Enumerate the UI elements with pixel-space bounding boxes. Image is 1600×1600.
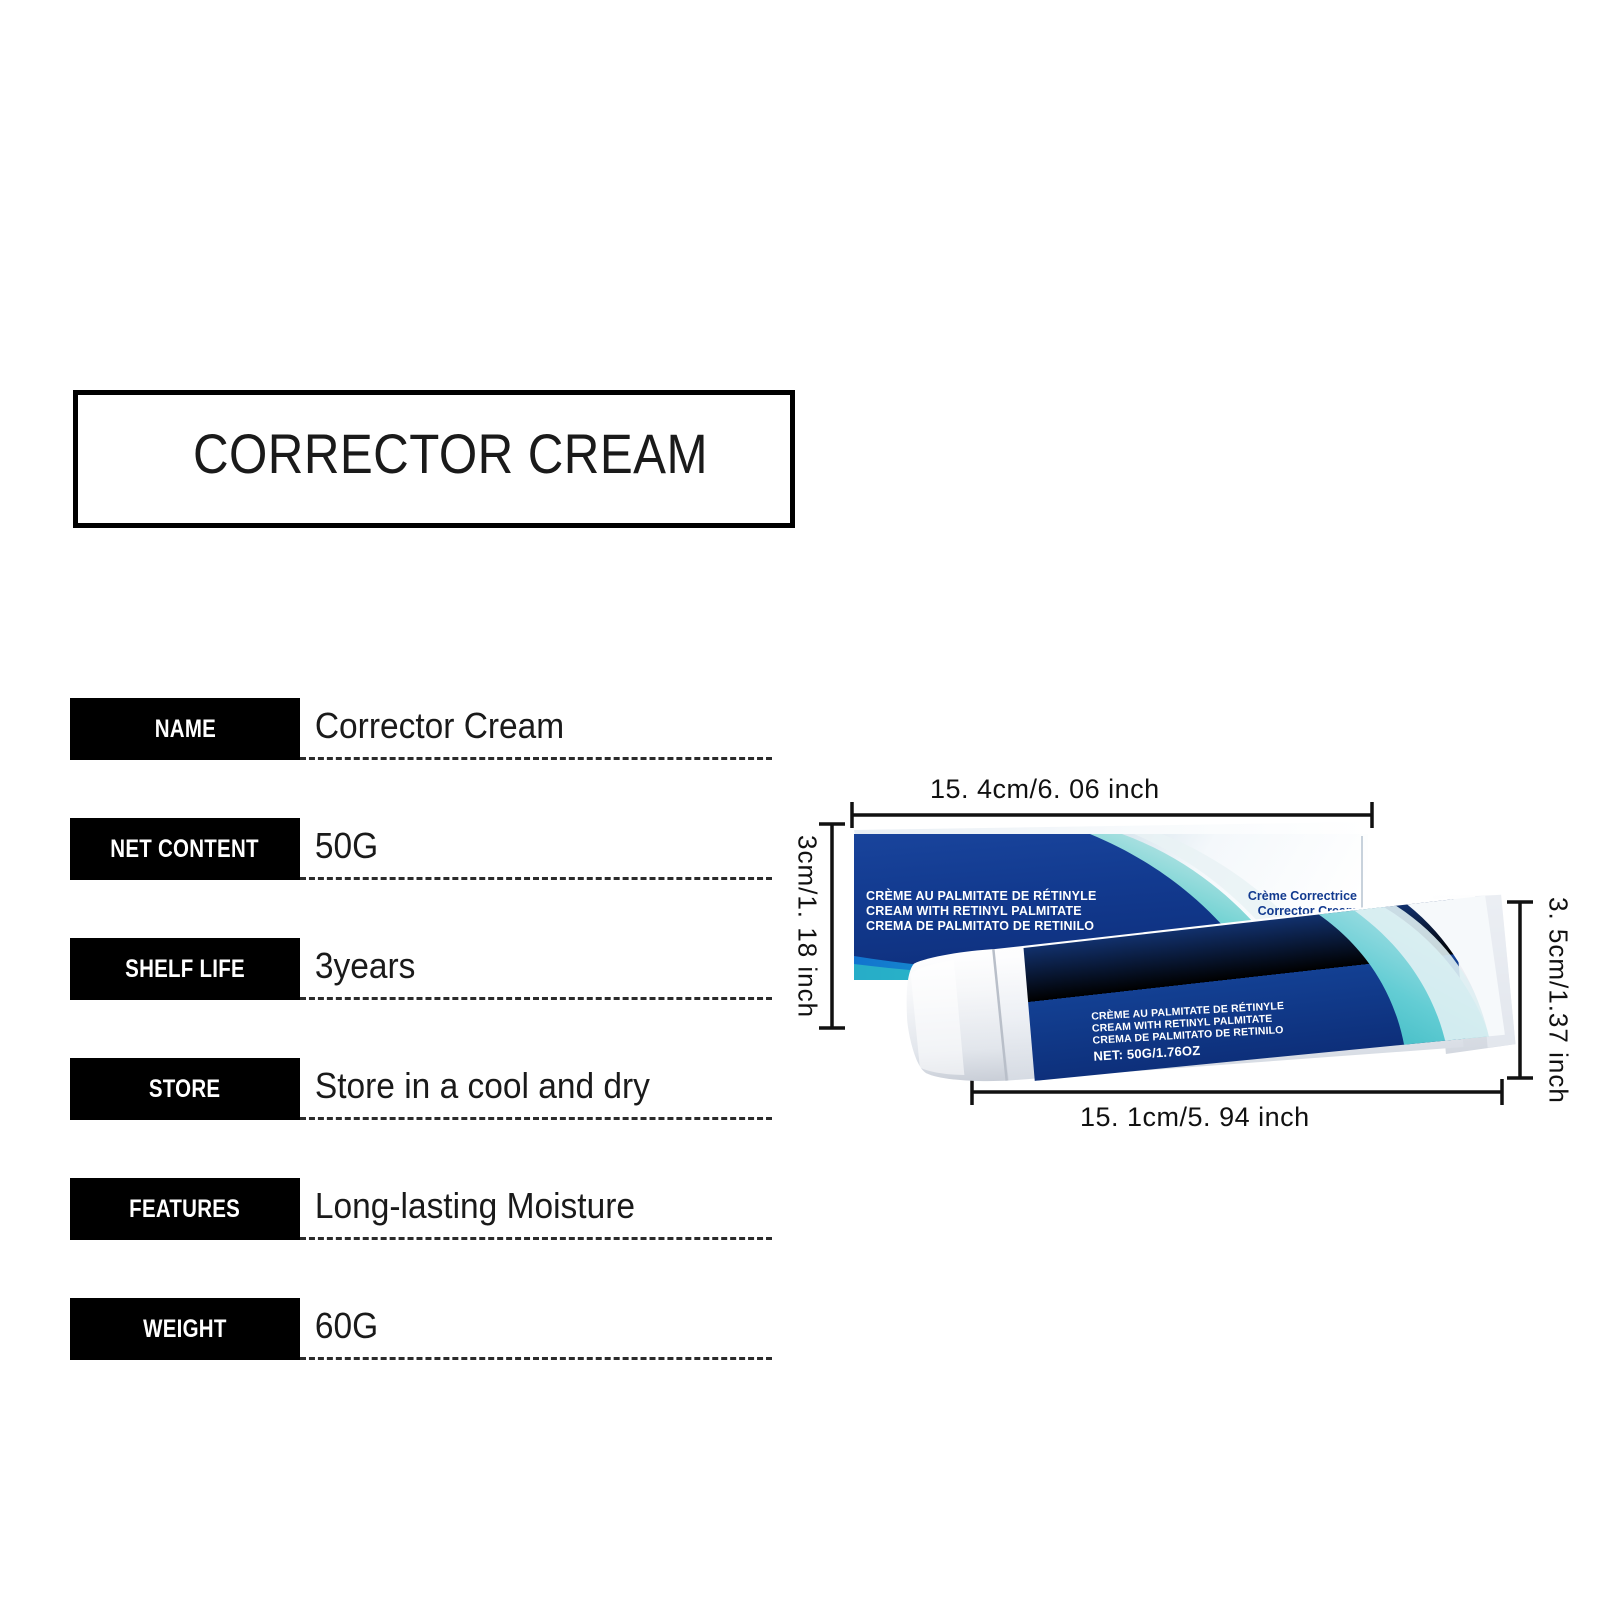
spec-value-features-row: Long-lasting Moisture (300, 1178, 772, 1240)
spec-value-net-content: 50G (300, 825, 378, 871)
spec-value-weight-row: 60G (300, 1298, 772, 1360)
page-title: CORRECTOR CREAM (193, 421, 708, 486)
spec-label-net-content: NET CONTENT (70, 818, 300, 880)
spec-label-features: FEATURES (70, 1178, 300, 1240)
carton-front-line-2: CREAM WITH RETINYL PALMITATE (866, 904, 1082, 918)
spec-label-name: NAME (70, 698, 300, 760)
carton-front-line-1: CRÈME AU PALMITATE DE RÉTINYLE (866, 888, 1097, 903)
product-illustration: 15. 4cm/6. 06 inch 15. 1cm/5. 94 inch 3c… (790, 760, 1590, 1160)
spec-row-name: NAME Corrector Cream (0, 698, 800, 818)
spec-label-name-text: NAME (154, 715, 215, 744)
carton-front-line-3: CREMA DE PALMITATO DE RETINILO (866, 919, 1094, 933)
dimension-bracket-carton-height (819, 824, 845, 1028)
spec-value-net-content-row: 50G (300, 818, 772, 880)
spec-row-shelf-life: SHELF LIFE 3years (0, 938, 800, 1058)
product-spec-page: CORRECTOR CREAM NAME Corrector Cream NET… (0, 0, 1600, 1600)
spec-table: NAME Corrector Cream NET CONTENT 50G SHE… (0, 698, 800, 1418)
spec-value-store-row: Store in a cool and dry (300, 1058, 772, 1120)
spec-value-store: Store in a cool and dry (300, 1065, 650, 1111)
spec-row-store: STORE Store in a cool and dry (0, 1058, 800, 1178)
spec-row-net-content: NET CONTENT 50G (0, 818, 800, 938)
spec-row-weight: WEIGHT 60G (0, 1298, 800, 1418)
spec-row-features: FEATURES Long-lasting Moisture (0, 1178, 800, 1298)
spec-label-weight-text: WEIGHT (143, 1315, 226, 1344)
spec-label-features-text: FEATURES (130, 1195, 241, 1224)
spec-value-name: Corrector Cream (300, 705, 564, 751)
spec-label-weight: WEIGHT (70, 1298, 300, 1360)
spec-label-shelf-life: SHELF LIFE (70, 938, 300, 1000)
spec-value-features: Long-lasting Moisture (300, 1185, 635, 1231)
spec-value-weight: 60G (300, 1305, 378, 1351)
spec-label-store-text: STORE (149, 1075, 220, 1104)
spec-label-store: STORE (70, 1058, 300, 1120)
product-artwork: CRÈME AU PALMITATE DE RÉTINYLE CREAM WIT… (790, 760, 1590, 1160)
spec-value-shelf-life-row: 3years (300, 938, 772, 1000)
spec-label-shelf-life-text: SHELF LIFE (125, 955, 245, 984)
dimension-bracket-tube-height (1507, 902, 1533, 1078)
spec-value-shelf-life: 3years (300, 945, 415, 991)
spec-label-net-content-text: NET CONTENT (111, 835, 259, 864)
dimension-bracket-tube-width (972, 1079, 1502, 1105)
carton-front-text: CRÈME AU PALMITATE DE RÉTINYLE CREAM WIT… (866, 888, 1097, 933)
title-box: CORRECTOR CREAM (73, 390, 795, 528)
spec-value-name-row: Corrector Cream (300, 698, 772, 760)
carton-side-line-1: Crème Correctrice (1248, 889, 1357, 903)
